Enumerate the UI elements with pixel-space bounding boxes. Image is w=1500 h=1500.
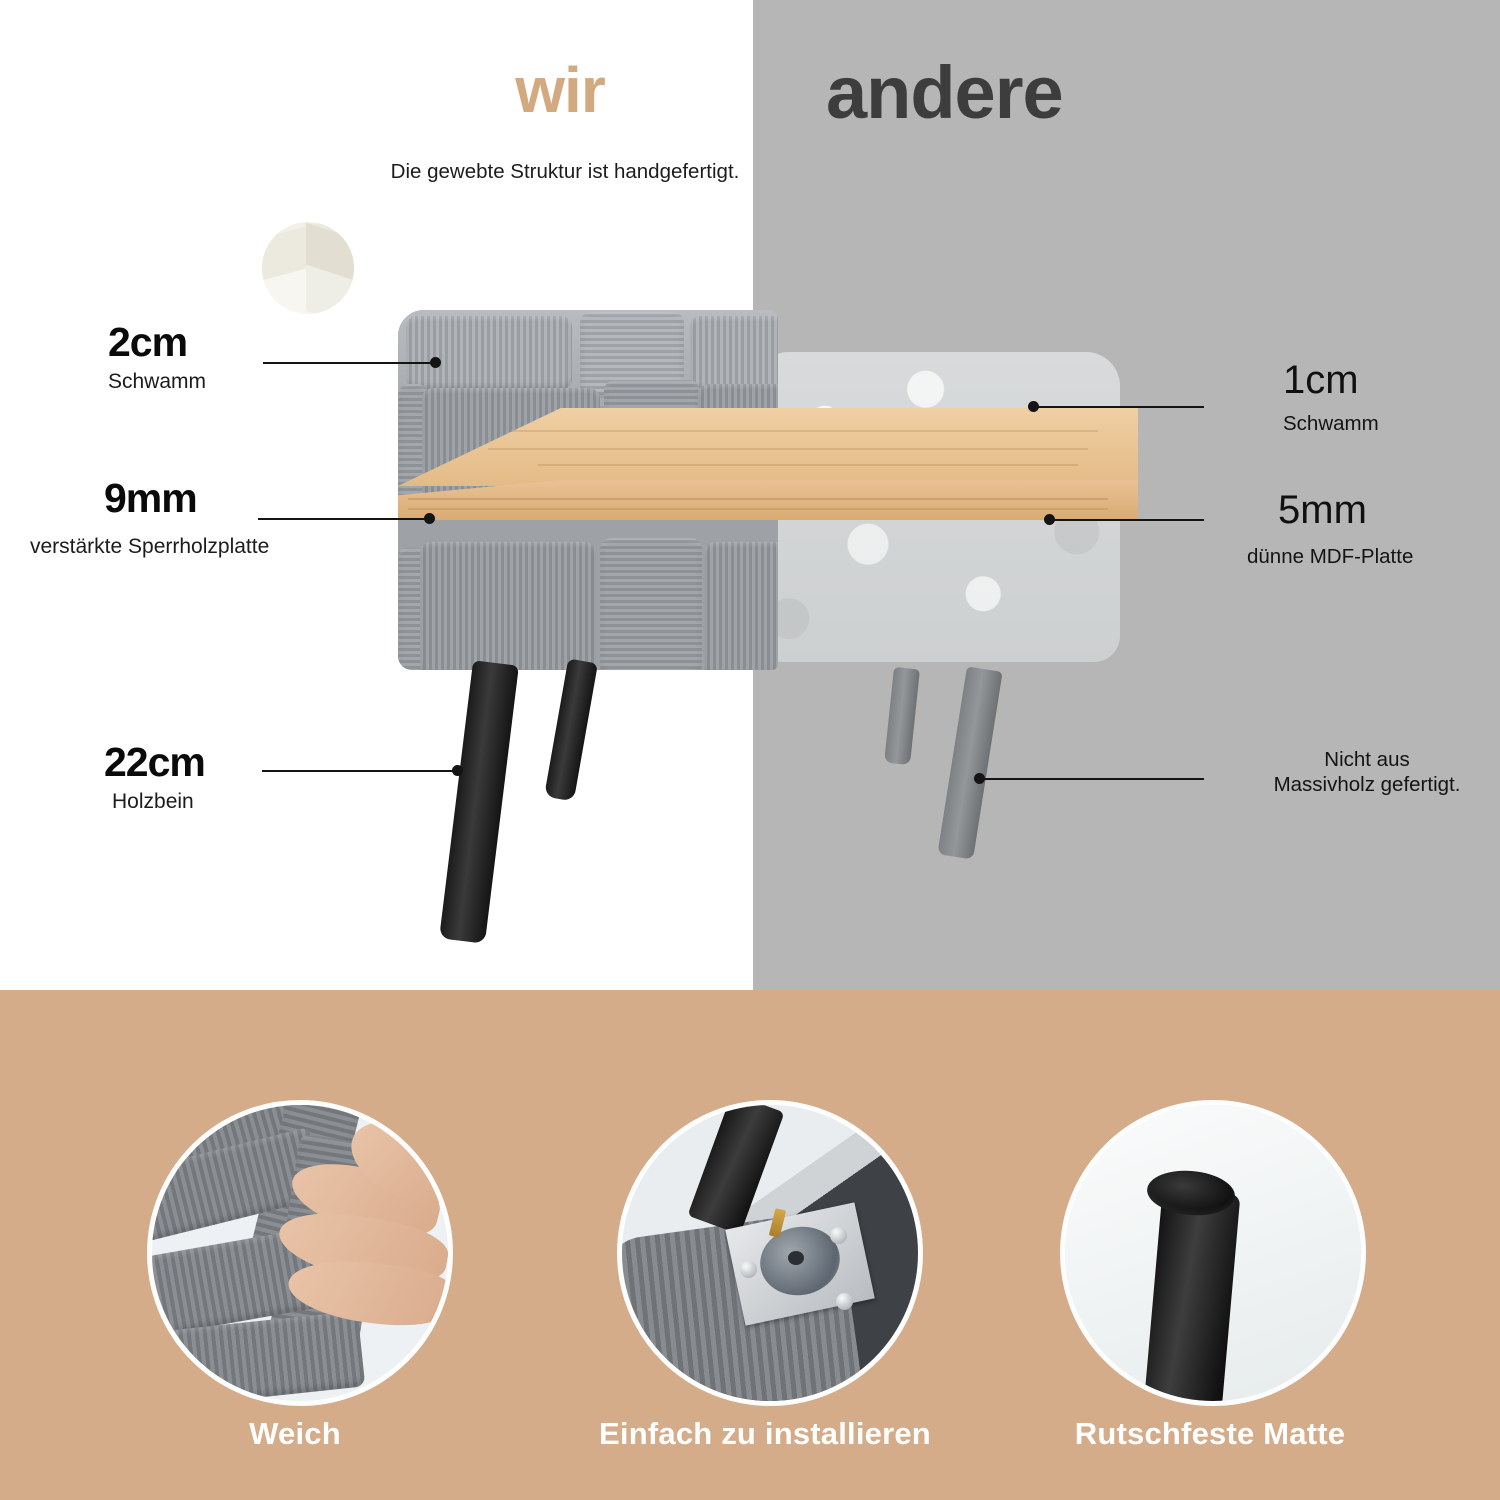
callout-others-1-value: 1cm [1283, 360, 1359, 400]
callout-others-3-label-line2: Massivholz gefertigt. [1237, 773, 1497, 798]
callout-others-3-label: Nicht aus Massivholz gefertigt. [1237, 748, 1497, 797]
leader-dot-others-1 [1028, 401, 1039, 412]
callout-others-3-label-line1: Nicht aus [1237, 748, 1497, 773]
infographic-page: wir andere Die gewebte Struktur ist hand… [0, 0, 1500, 1500]
callout-ours-1-label: Schwamm [108, 370, 206, 394]
callout-others-1-label: Schwamm [1283, 412, 1379, 437]
wood-plank-cross-section [398, 408, 1138, 533]
feature-image-soft [147, 1100, 453, 1406]
leader-line-others-3 [982, 778, 1204, 780]
feature-caption-nonslip-pad: Rutschfeste Matte [1020, 1418, 1400, 1449]
leader-line-others-2 [1052, 519, 1204, 521]
callout-ours-3-value: 22cm [104, 742, 205, 783]
callout-ours-2-value: 9mm [104, 478, 197, 519]
feature-caption-soft: Weich [147, 1418, 443, 1449]
leader-dot-ours-3 [452, 765, 463, 776]
product-cutaway-illustration [0, 0, 1500, 990]
our-leg-back [544, 658, 598, 801]
leader-line-ours-1 [263, 362, 435, 364]
competitor-leg-back [884, 667, 920, 765]
leader-dot-others-2 [1044, 514, 1055, 525]
feature-caption-easy-install: Einfach zu installieren [545, 1418, 985, 1449]
feature-image-easy-install [617, 1100, 923, 1406]
callout-ours-2-label: verstärkte Sperrholzplatte [30, 535, 269, 559]
competitor-leg-front [937, 666, 1002, 859]
comparison-panel: wir andere Die gewebte Struktur ist hand… [0, 0, 1500, 990]
leader-line-ours-2 [258, 518, 428, 520]
leader-dot-ours-1 [430, 357, 441, 368]
leader-dot-others-3 [974, 773, 985, 784]
callout-others-2-value: 5mm [1278, 490, 1367, 530]
callout-ours-3-label: Holzbein [112, 790, 194, 814]
feature-image-nonslip-pad [1060, 1100, 1366, 1406]
our-leg-front [439, 660, 519, 944]
callout-others-2-label: dünne MDF-Platte [1247, 545, 1413, 570]
leader-line-others-1 [1036, 406, 1204, 408]
callout-ours-1-value: 2cm [108, 322, 187, 363]
leader-line-ours-3 [262, 770, 458, 772]
leader-dot-ours-2 [424, 513, 435, 524]
